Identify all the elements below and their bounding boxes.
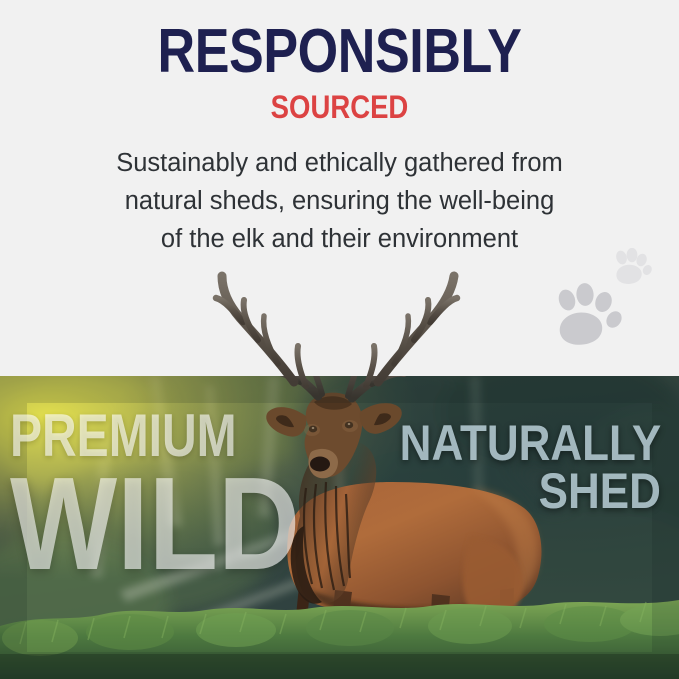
overlay-word-naturally: NATURALLY [399, 418, 661, 468]
paw-print-icon-large [551, 281, 625, 351]
page-title: RESPONSIBLY [54, 22, 624, 82]
description-text: Sustainably and ethically gathered from … [42, 144, 637, 258]
description-line-3: of the elk and their environment [42, 220, 637, 258]
description-line-2: natural sheds, ensuring the well-being [42, 182, 637, 220]
description-line-1: Sustainably and ethically gathered from [42, 144, 637, 182]
page-subtitle: SOURCED [48, 90, 632, 124]
overlay-word-shed: SHED [539, 466, 661, 516]
overlay-word-wild: WILD [10, 458, 300, 590]
header-panel: RESPONSIBLY SOURCED Sustainably and ethi… [0, 0, 679, 376]
